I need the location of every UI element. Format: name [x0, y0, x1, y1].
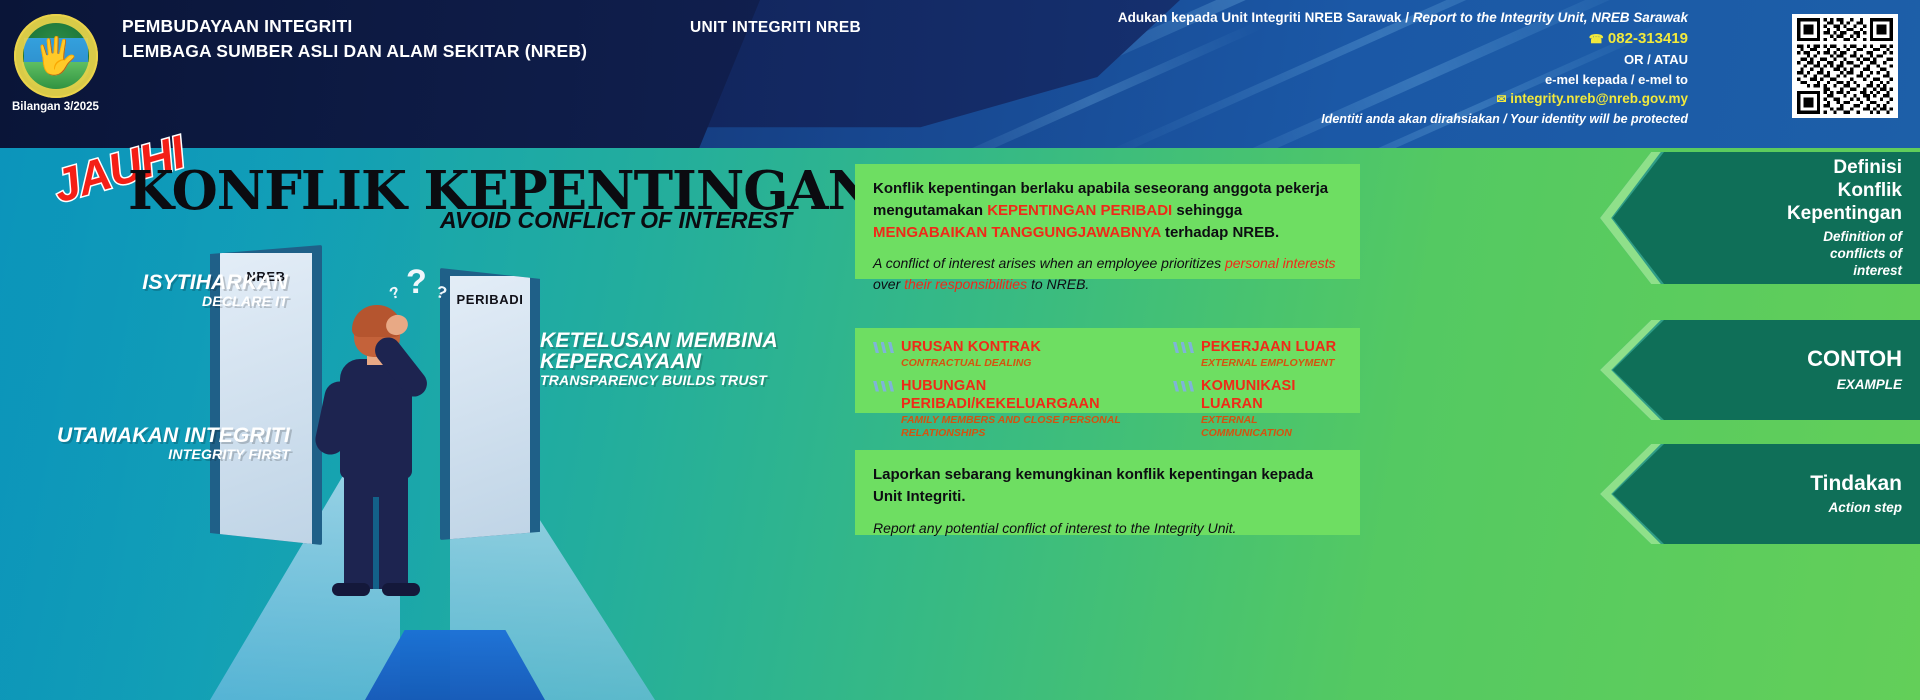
email-line[interactable]: ✉ integrity.nreb@nreb.gov.my [1048, 89, 1688, 109]
tab-example-bm: CONTOH [1807, 346, 1902, 373]
tab-action-bm: Tindakan [1810, 471, 1902, 497]
org-line-2: LEMBAGA SUMBER ASLI DAN ALAM SEKITAR (NR… [122, 39, 587, 64]
definition-bm: Konflik kepentingan berlaku apabila sese… [873, 178, 1346, 243]
slogan-declare: ISYTIHARKAN DECLARE IT [88, 272, 288, 309]
definition-en-red2: their responsibilities [904, 276, 1027, 292]
org-line-1: PEMBUDAYAAN INTEGRITI [122, 14, 587, 39]
example-item: KOMUNIKASI LUARAN EXTERNAL COMMUNICATION [1173, 377, 1350, 441]
report-line: Adukan kepada Unit Integriti NREB Sarawa… [1048, 8, 1688, 28]
definition-bm-part3: terhadap NREB. [1161, 224, 1279, 241]
contact-block: Adukan kepada Unit Integriti NREB Sarawa… [1048, 8, 1688, 129]
tab-definition-en-1: Definition of [1787, 229, 1902, 246]
email-address: integrity.nreb@nreb.gov.my [1510, 91, 1688, 106]
slogan-integrity-first: UTAMAKAN INTEGRITI INTEGRITY FIRST [30, 425, 290, 462]
example-1-en: CONTRACTUAL DEALING [901, 357, 1041, 370]
example-item: URUSAN KONTRAK CONTRACTUAL DEALING [873, 338, 1173, 371]
unit-title: UNIT INTEGRITI NREB [690, 19, 861, 37]
tab-action-en: Action step [1810, 500, 1902, 517]
slogan-integrity-bm: UTAMAKAN INTEGRITI [30, 425, 290, 446]
door-peribadi: PERIBADI [440, 268, 540, 540]
phone-number: 082-313419 [1608, 30, 1688, 47]
tab-example[interactable]: CONTOH EXAMPLE [1600, 320, 1920, 420]
phone-icon: ☎ [1589, 32, 1604, 46]
phone-line[interactable]: ☎ 082-313419 [1048, 28, 1688, 50]
chevron-marks-icon [1173, 381, 1194, 392]
example-3-bm: HUBUNGAN PERIBADI/KEKELUARGAAN [901, 378, 1100, 412]
organisation-title: PEMBUDAYAAN INTEGRITI LEMBAGA SUMBER ASL… [122, 14, 587, 64]
report-label-en: Report to the Integrity Unit, NREB Saraw… [1413, 10, 1688, 25]
door-peribadi-label: PERIBADI [440, 292, 540, 307]
header-bar: 🖐 PEMBUDAYAAN INTEGRITI LEMBAGA SUMBER A… [0, 0, 1920, 148]
slogan-transparency-bm: KETELUSAN MEMBINA KEPERCAYAAN [540, 330, 870, 372]
question-mark-large: ? [406, 263, 427, 302]
tab-definition-bm-2: Konflik [1787, 179, 1902, 202]
tab-definition-bm-1: Definisi [1787, 156, 1902, 179]
example-4-bm: KOMUNIKASI LUARAN [1201, 378, 1295, 412]
chevron-marks-icon [873, 342, 894, 353]
slogan-transparency-en: TRANSPARENCY BUILDS TRUST [540, 372, 870, 388]
slogan-declare-bm: ISYTIHARKAN [88, 272, 288, 293]
qr-code[interactable] [1792, 14, 1898, 118]
confused-man-figure: ? ? ? [310, 285, 445, 620]
chevron-marks-icon [1173, 342, 1194, 353]
definition-en-part1: A conflict of interest arises when an em… [873, 255, 1225, 271]
example-1-bm: URUSAN KONTRAK [901, 339, 1041, 355]
definition-en-part3: to NREB. [1027, 276, 1089, 292]
nreb-logo: 🖐 [14, 14, 98, 98]
panel-action: Laporkan sebarang kemungkinan konflik ke… [855, 450, 1360, 535]
panel-definition: Konflik kepentingan berlaku apabila sese… [855, 164, 1360, 279]
page-subtitle: AVOID CONFLICT OF INTEREST [440, 207, 792, 234]
example-2-bm: PEKERJAAN LUAR [1201, 339, 1336, 355]
chevron-marks-icon [873, 381, 894, 392]
panel-examples: URUSAN KONTRAK CONTRACTUAL DEALING PEKER… [855, 328, 1360, 413]
tab-example-en: EXAMPLE [1807, 377, 1902, 394]
slogan-declare-en: DECLARE IT [88, 293, 288, 309]
slogan-transparency: KETELUSAN MEMBINA KEPERCAYAAN TRANSPAREN… [540, 330, 870, 388]
definition-bm-part2: sehingga [1172, 202, 1242, 219]
definition-en-red1: personal interests [1225, 255, 1336, 271]
email-label: e-mel kepada / e-mel to [1048, 70, 1688, 90]
definition-bm-red2: MENGABAIKAN TANGGUNGJAWABNYA [873, 224, 1161, 241]
definition-en: A conflict of interest arises when an em… [873, 253, 1346, 294]
definition-en-part2: over [873, 276, 904, 292]
action-en: Report any potential conflict of interes… [873, 518, 1346, 538]
tab-action[interactable]: Tindakan Action step [1600, 444, 1920, 544]
tab-definition-en-3: interest [1787, 263, 1902, 280]
question-mark-left: ? [387, 284, 402, 304]
qr-code-icon [1796, 18, 1894, 114]
envelope-icon: ✉ [1496, 92, 1506, 106]
identity-protected-note: Identiti anda akan dirahsiakan / Your id… [1048, 109, 1688, 129]
issue-number: Bilangan 3/2025 [12, 101, 99, 113]
tab-definition[interactable]: Definisi Konflik Kepentingan Definition … [1600, 152, 1920, 284]
example-3-en: FAMILY MEMBERS AND CLOSE PERSONAL RELATI… [901, 414, 1173, 440]
example-item: HUBUNGAN PERIBADI/KEKELUARGAAN FAMILY ME… [873, 377, 1173, 441]
tab-definition-en-2: conflicts of [1787, 246, 1902, 263]
example-item: PEKERJAAN LUAR EXTERNAL EMPLOYMENT [1173, 338, 1350, 371]
action-bm: Laporkan sebarang kemungkinan konflik ke… [873, 464, 1346, 508]
report-label-bm: Adukan kepada Unit Integriti NREB Sarawa… [1118, 10, 1413, 25]
definition-bm-red1: KEPENTINGAN PERIBADI [987, 202, 1172, 219]
or-atau: OR / ATAU [1048, 50, 1688, 70]
example-4-en: EXTERNAL COMMUNICATION [1201, 414, 1350, 440]
tab-definition-bm-3: Kepentingan [1787, 202, 1902, 225]
example-2-en: EXTERNAL EMPLOYMENT [1201, 357, 1336, 370]
slogan-integrity-en: INTEGRITY FIRST [30, 446, 290, 462]
infographic-poster: 🖐 PEMBUDAYAAN INTEGRITI LEMBAGA SUMBER A… [0, 0, 1920, 700]
